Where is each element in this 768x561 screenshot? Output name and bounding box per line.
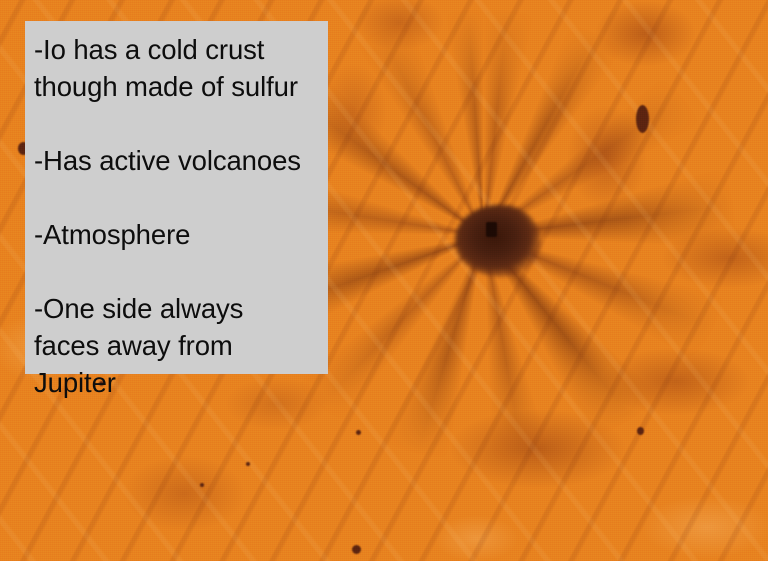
- caption-spacer: [34, 105, 328, 142]
- caption-spacer: [34, 253, 328, 290]
- caption-line: faces away from: [34, 327, 328, 364]
- caption-line: -Has active volcanoes: [34, 142, 328, 179]
- caption-line: -Io has a cold crust: [34, 31, 328, 68]
- caption-line: Jupiter: [34, 364, 328, 401]
- caption-text-box: -Io has a cold crust though made of sulf…: [25, 21, 328, 374]
- caption-spacer: [34, 179, 328, 216]
- slide: -Io has a cold crust though made of sulf…: [0, 0, 768, 561]
- caption-line: -Atmosphere: [34, 216, 328, 253]
- caption-line: -One side always: [34, 290, 328, 327]
- caption-line: though made of sulfur: [34, 68, 328, 105]
